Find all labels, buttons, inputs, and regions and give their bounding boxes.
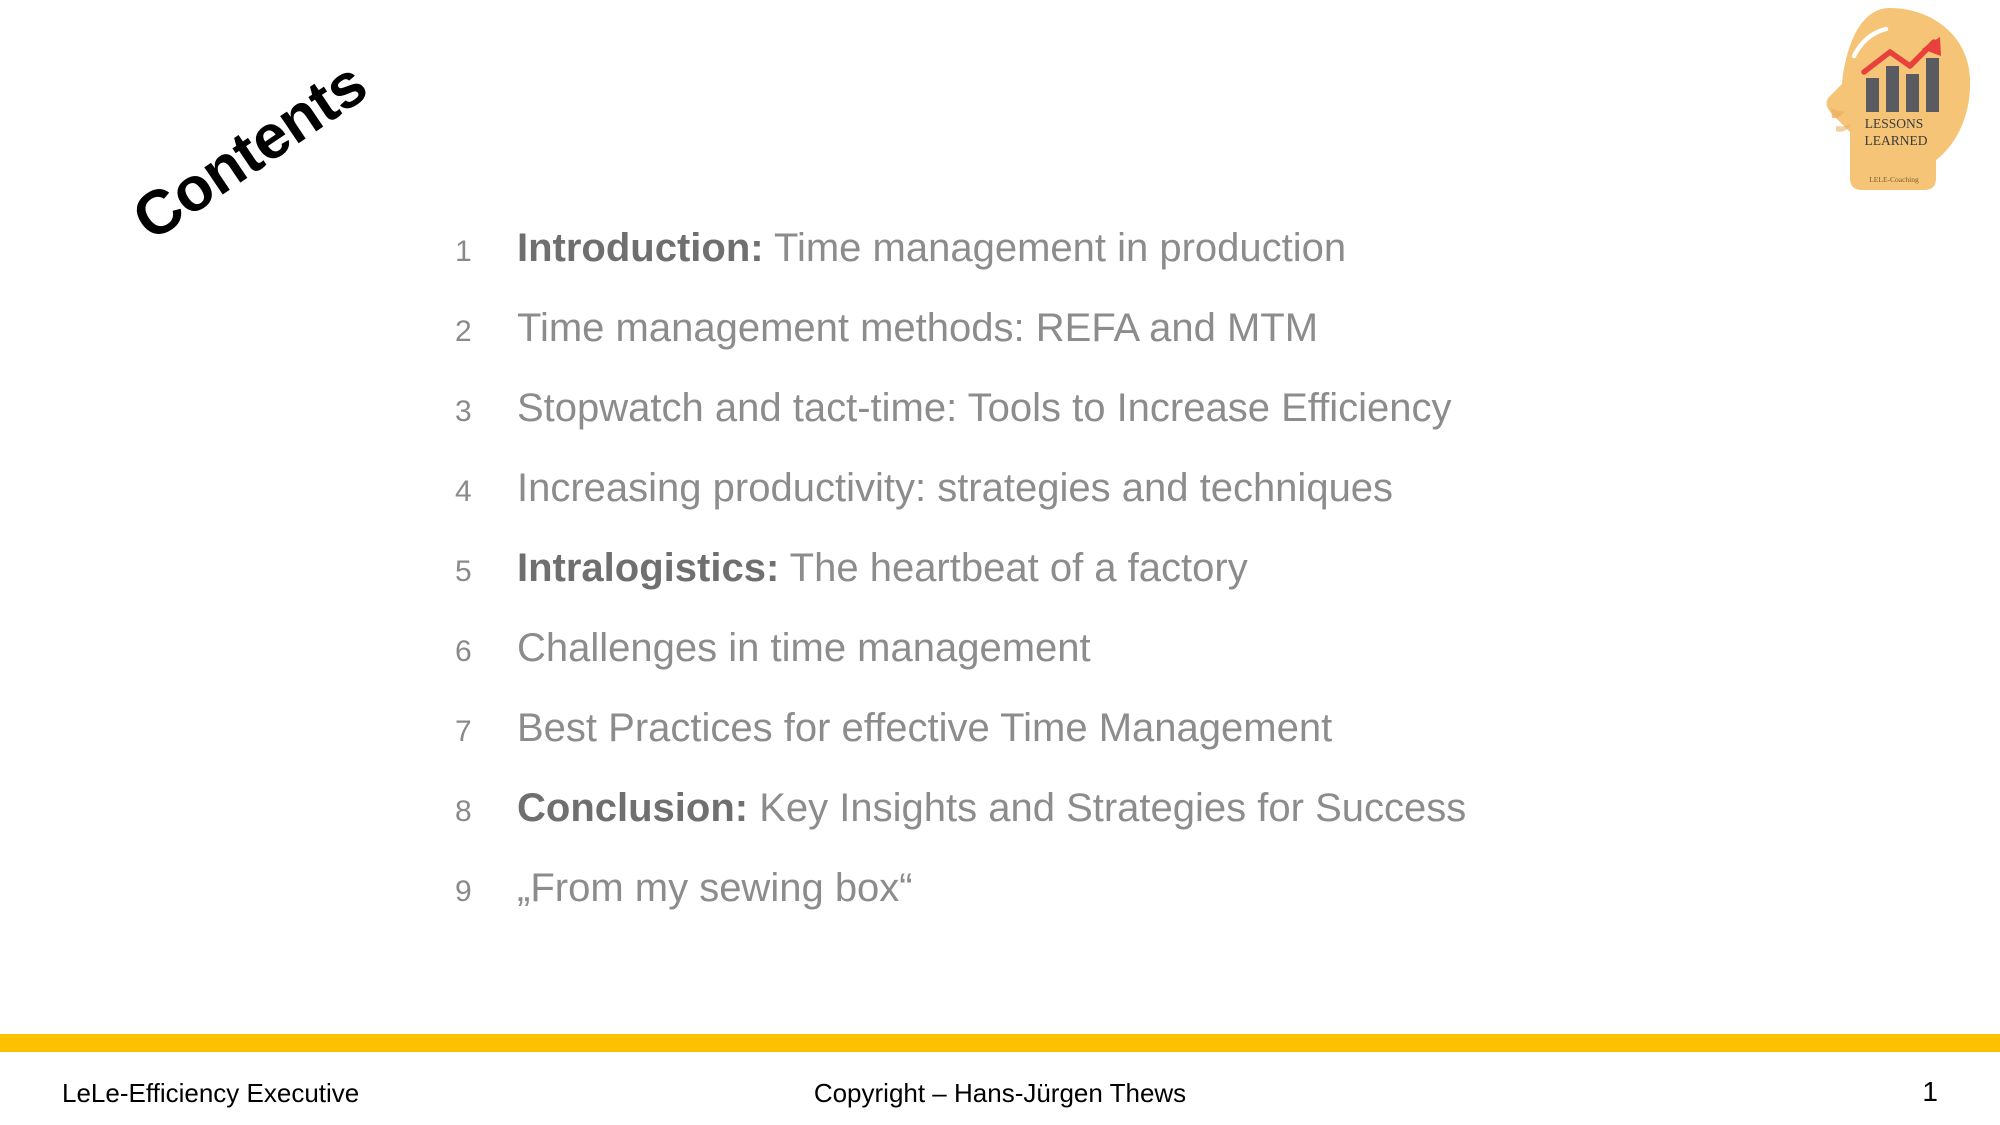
contents-list: 1 Introduction: Time management in produ… — [455, 228, 1755, 948]
list-item-label: Best Practices for effective Time Manage… — [517, 708, 1332, 748]
list-item-label: Challenges in time management — [517, 628, 1091, 668]
list-item-label: „From my sewing box“ — [517, 868, 913, 908]
list-item-number: 4 — [455, 477, 517, 507]
list-item-number: 5 — [455, 557, 517, 587]
list-item-rest: The heartbeat of a factory — [779, 546, 1247, 590]
list-item-label: Stopwatch and tact-time: Tools to Increa… — [517, 388, 1452, 428]
page-title: Contents — [120, 48, 379, 255]
list-item-number: 6 — [455, 637, 517, 667]
list-item-number: 8 — [455, 797, 517, 827]
list-item-rest: „From my sewing box“ — [517, 866, 913, 910]
list-item-rest: Increasing productivity: strategies and … — [517, 466, 1393, 510]
footer-copyright-text: Copyright – Hans-Jürgen Thews — [0, 1078, 2000, 1109]
head-logo-icon: LESSONS LEARNED LELE-Coaching — [1818, 4, 1978, 204]
page-title-container: Contents — [140, 130, 440, 270]
list-item-rest: Time management methods: REFA and MTM — [517, 306, 1318, 350]
list-item-number: 2 — [455, 317, 517, 347]
list-item-rest: Challenges in time management — [517, 626, 1091, 670]
slide-canvas: LESSONS LEARNED LELE-Coaching Contents 1… — [0, 0, 2000, 1125]
list-item-rest: Best Practices for effective Time Manage… — [517, 706, 1332, 750]
list-item[interactable]: 5 Intralogistics: The heartbeat of a fac… — [455, 548, 1755, 628]
list-item-rest: Time management in production — [764, 226, 1347, 270]
logo-line2: LEARNED — [1865, 133, 1928, 148]
list-item-label: Conclusion: Key Insights and Strategies … — [517, 788, 1466, 828]
list-item-lead: Intralogistics: — [517, 546, 779, 590]
footer-page-number: 1 — [1922, 1076, 1938, 1108]
list-item-number: 9 — [455, 877, 517, 907]
list-item-label: Intralogistics: The heartbeat of a facto… — [517, 548, 1248, 588]
list-item-number: 7 — [455, 717, 517, 747]
logo-caption: LELE-Coaching — [1869, 175, 1919, 184]
list-item[interactable]: 6 Challenges in time management — [455, 628, 1755, 708]
list-item-label: Increasing productivity: strategies and … — [517, 468, 1393, 508]
list-item-rest: Stopwatch and tact-time: Tools to Increa… — [517, 386, 1452, 430]
list-item-rest: Key Insights and Strategies for Success — [748, 786, 1466, 830]
list-item-number: 1 — [455, 237, 517, 267]
list-item-number: 3 — [455, 397, 517, 427]
list-item[interactable]: 8 Conclusion: Key Insights and Strategie… — [455, 788, 1755, 868]
list-item[interactable]: 1 Introduction: Time management in produ… — [455, 228, 1755, 308]
list-item-lead: Conclusion: — [517, 786, 748, 830]
list-item-label: Time management methods: REFA and MTM — [517, 308, 1318, 348]
logo-line1: LESSONS — [1865, 116, 1924, 131]
list-item[interactable]: 3 Stopwatch and tact-time: Tools to Incr… — [455, 388, 1755, 468]
list-item-lead: Introduction: — [517, 226, 764, 270]
slide-footer: LeLe-Efficiency Executive Copyright – Ha… — [0, 1070, 2000, 1116]
list-item[interactable]: 4 Increasing productivity: strategies an… — [455, 468, 1755, 548]
footer-accent-bar — [0, 1034, 2000, 1052]
list-item[interactable]: 9 „From my sewing box“ — [455, 868, 1755, 948]
list-item-label: Introduction: Time management in product… — [517, 228, 1346, 268]
lessons-learned-logo: LESSONS LEARNED LELE-Coaching — [1818, 4, 1978, 204]
list-item[interactable]: 7 Best Practices for effective Time Mana… — [455, 708, 1755, 788]
list-item[interactable]: 2 Time management methods: REFA and MTM — [455, 308, 1755, 388]
